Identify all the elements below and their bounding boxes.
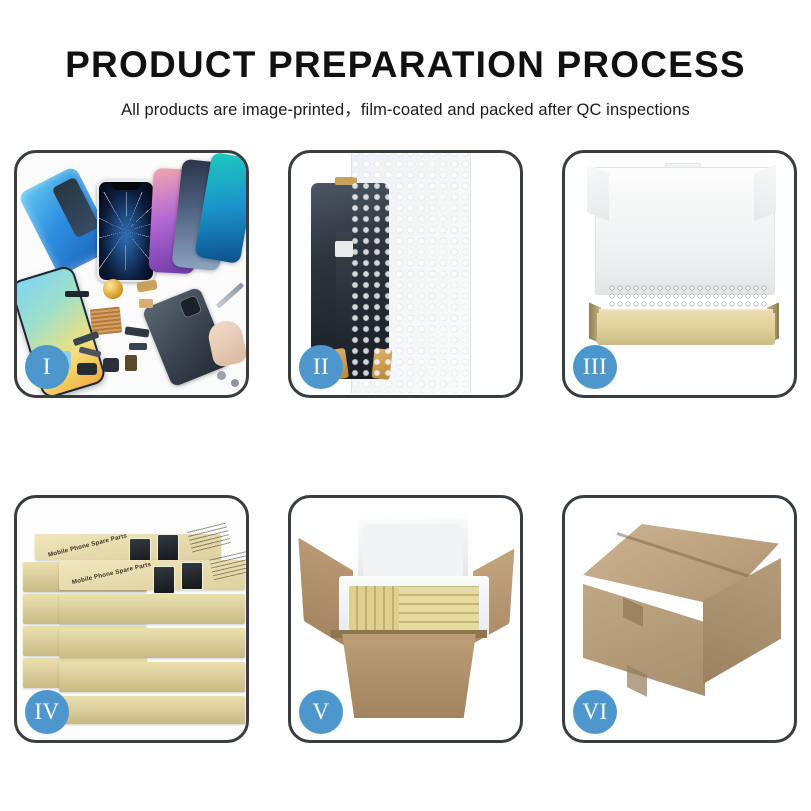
screw-1 bbox=[217, 371, 226, 380]
flex-cable-4 bbox=[129, 343, 147, 350]
tweezers-tool bbox=[216, 282, 245, 308]
page-title: PRODUCT PREPARATION PROCESS bbox=[0, 0, 811, 85]
step-badge-1: I bbox=[25, 345, 69, 389]
step-badge-3: III bbox=[573, 345, 617, 389]
process-step-4[interactable]: Mobile Phone Spare Parts Mobile Phone Sp… bbox=[14, 495, 249, 743]
gold-box-body bbox=[587, 279, 781, 349]
box-white-lid bbox=[595, 167, 775, 295]
box-lid-flap-right bbox=[754, 165, 776, 222]
box-art-textlines-1 bbox=[187, 521, 231, 552]
small-part-7 bbox=[103, 358, 119, 372]
process-step-3[interactable]: III bbox=[562, 150, 797, 398]
small-part-6 bbox=[77, 363, 97, 375]
box-front-panel bbox=[597, 313, 775, 345]
small-part-9 bbox=[65, 291, 89, 297]
box-lid-flap-left bbox=[587, 165, 609, 222]
step-badge-4: IV bbox=[25, 690, 69, 734]
process-step-5[interactable]: V bbox=[288, 495, 523, 743]
page-header: PRODUCT PREPARATION PROCESS All products… bbox=[0, 0, 811, 120]
bubble-wrap-overlay bbox=[351, 153, 469, 393]
tempered-glass-screen bbox=[97, 180, 155, 282]
page-subtitle: All products are image-printed，film-coat… bbox=[0, 85, 811, 120]
gold-boxes-inside-horizontal bbox=[399, 586, 479, 630]
step-badge-6: VI bbox=[573, 690, 617, 734]
process-step-1[interactable]: I bbox=[14, 150, 249, 398]
process-step-grid: I II III bbox=[14, 150, 797, 743]
process-step-2[interactable]: II bbox=[288, 150, 523, 398]
screw-2 bbox=[231, 379, 239, 387]
process-step-6[interactable]: VI bbox=[562, 495, 797, 743]
step-badge-5: V bbox=[299, 690, 343, 734]
carton-front-panel bbox=[333, 634, 485, 718]
flex-cable-3 bbox=[125, 326, 150, 337]
stacked-box-front-5 bbox=[59, 696, 245, 724]
speaker-component bbox=[103, 279, 123, 299]
gold-connector-2 bbox=[139, 299, 153, 308]
gold-connector-1 bbox=[136, 279, 157, 292]
step-badge-2: II bbox=[299, 345, 343, 389]
stacked-box-front-3 bbox=[59, 628, 245, 658]
box-art-screen-1b bbox=[157, 534, 179, 562]
stacked-box-front-2 bbox=[59, 594, 245, 624]
box-art-screen-2a bbox=[153, 566, 175, 594]
stacked-box-front-4 bbox=[59, 662, 245, 692]
box-art-screen-2b bbox=[181, 562, 203, 590]
small-part-8 bbox=[125, 355, 137, 371]
